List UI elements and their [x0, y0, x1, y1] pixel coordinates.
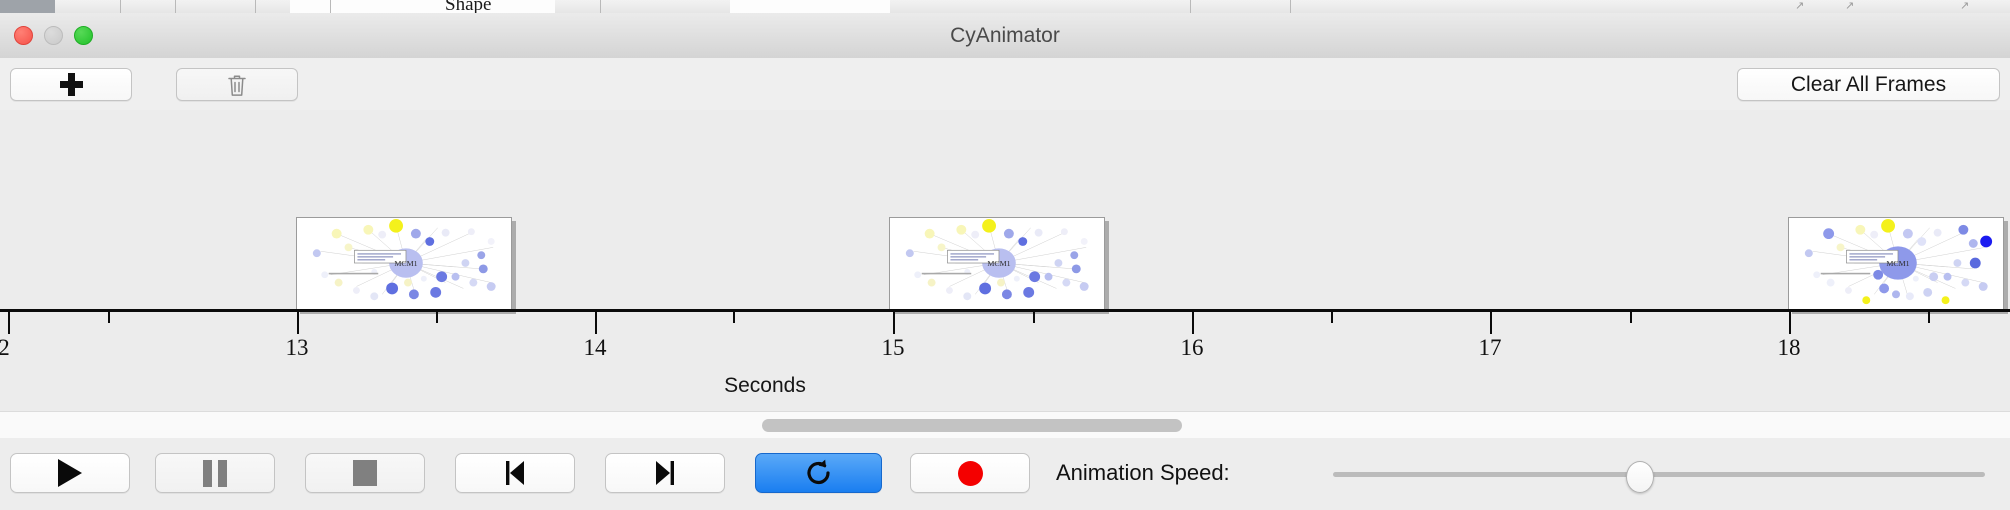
- play-button[interactable]: [10, 453, 130, 493]
- plus-icon: [60, 73, 83, 96]
- axis-tick-label: 13: [286, 335, 309, 361]
- background-window-strip: Shape ↗ ↗ ↗: [0, 0, 2010, 13]
- clear-all-frames-button[interactable]: Clear All Frames: [1737, 68, 2000, 101]
- animation-speed-label: Animation Speed:: [1056, 453, 1230, 493]
- axis-tick-minor: [108, 312, 110, 323]
- svg-text:MCM1: MCM1: [394, 259, 417, 268]
- axis-tick-minor: [1033, 312, 1035, 323]
- axis-tick-minor: [436, 312, 438, 323]
- axis-tick-label: 18: [1778, 335, 1801, 361]
- background-divider: [175, 0, 176, 13]
- svg-text:MCM1: MCM1: [1886, 259, 1909, 268]
- axis-tick-major: [297, 312, 299, 334]
- pause-button[interactable]: [155, 453, 275, 493]
- axis-tick-major: [595, 312, 597, 334]
- timeline-scrollbar[interactable]: [0, 411, 2010, 439]
- keyframe-thumbnail[interactable]: MCM1: [296, 217, 512, 310]
- network-thumbnail-icon: MCM1: [1789, 218, 2003, 309]
- axis-tick-major: [893, 312, 895, 334]
- background-chevron-icon: ↗: [1960, 1, 1971, 12]
- axis-tick-label: 2: [0, 335, 10, 361]
- axis-title: Seconds: [0, 374, 2010, 398]
- axis-title-label: Seconds: [724, 374, 806, 397]
- axis-tick-label: 15: [882, 335, 905, 361]
- loop-icon: [805, 458, 833, 488]
- axis-tick-label: 16: [1181, 335, 1204, 361]
- background-divider: [120, 0, 121, 13]
- record-icon: [958, 461, 983, 486]
- background-divider: [330, 0, 331, 13]
- clear-all-frames-label: Clear All Frames: [1791, 73, 1946, 97]
- axis-tick-major: [1789, 312, 1791, 334]
- axis-tick-major: [8, 312, 10, 334]
- slider-thumb[interactable]: [1626, 461, 1654, 493]
- axis-tick-minor: [1331, 312, 1333, 323]
- background-divider: [1290, 0, 1291, 13]
- skip-back-icon: [502, 459, 528, 487]
- loop-button[interactable]: [755, 453, 882, 493]
- background-panel-b: [730, 0, 890, 13]
- timeline-scrollbar-thumb[interactable]: [762, 419, 1182, 432]
- axis-tick-label: 17: [1479, 335, 1502, 361]
- network-thumbnail-icon: MCM1: [890, 218, 1104, 309]
- cyanimator-window: Shape ↗ ↗ ↗ CyAnimator Clear All Frames: [0, 0, 2010, 510]
- axis-tick-major: [1192, 312, 1194, 334]
- network-thumbnail-icon: MCM1: [297, 218, 511, 309]
- axis-tick-minor: [733, 312, 735, 323]
- timeline-axis: [0, 309, 2010, 312]
- trash-icon: [226, 73, 248, 97]
- record-button[interactable]: [910, 453, 1030, 493]
- background-divider: [255, 0, 256, 13]
- svg-text:MCM1: MCM1: [987, 259, 1010, 268]
- play-icon: [58, 459, 82, 487]
- animation-speed-slider[interactable]: [1333, 453, 1985, 493]
- window-title: CyAnimator: [0, 13, 2010, 58]
- axis-tick-minor: [1928, 312, 1930, 323]
- delete-frame-button[interactable]: [176, 68, 298, 101]
- previous-frame-button[interactable]: [455, 453, 575, 493]
- keyframe-thumbnail[interactable]: MCM1: [1788, 217, 2004, 310]
- axis-tick-label: 14: [584, 335, 607, 361]
- background-sidebar: [0, 0, 55, 13]
- background-divider: [600, 0, 601, 13]
- slider-track: [1333, 472, 1985, 477]
- keyframe-thumbnail[interactable]: MCM1: [889, 217, 1105, 310]
- timeline-panel[interactable]: MCM1: [0, 110, 2010, 411]
- background-chevron-icon: ↗: [1795, 1, 1806, 12]
- skip-forward-icon: [652, 459, 678, 487]
- axis-tick-major: [1490, 312, 1492, 334]
- background-chevron-icon: ↗: [1845, 1, 1856, 12]
- stop-icon: [353, 460, 377, 486]
- background-window-text: Shape: [445, 0, 491, 13]
- pause-icon: [203, 460, 227, 487]
- add-frame-button[interactable]: [10, 68, 132, 101]
- background-divider: [1190, 0, 1191, 13]
- frame-toolbar: Clear All Frames: [0, 58, 2010, 111]
- stop-button[interactable]: [305, 453, 425, 493]
- axis-tick-minor: [1630, 312, 1632, 323]
- playback-toolbar: Animation Speed:: [0, 438, 2010, 510]
- next-frame-button[interactable]: [605, 453, 725, 493]
